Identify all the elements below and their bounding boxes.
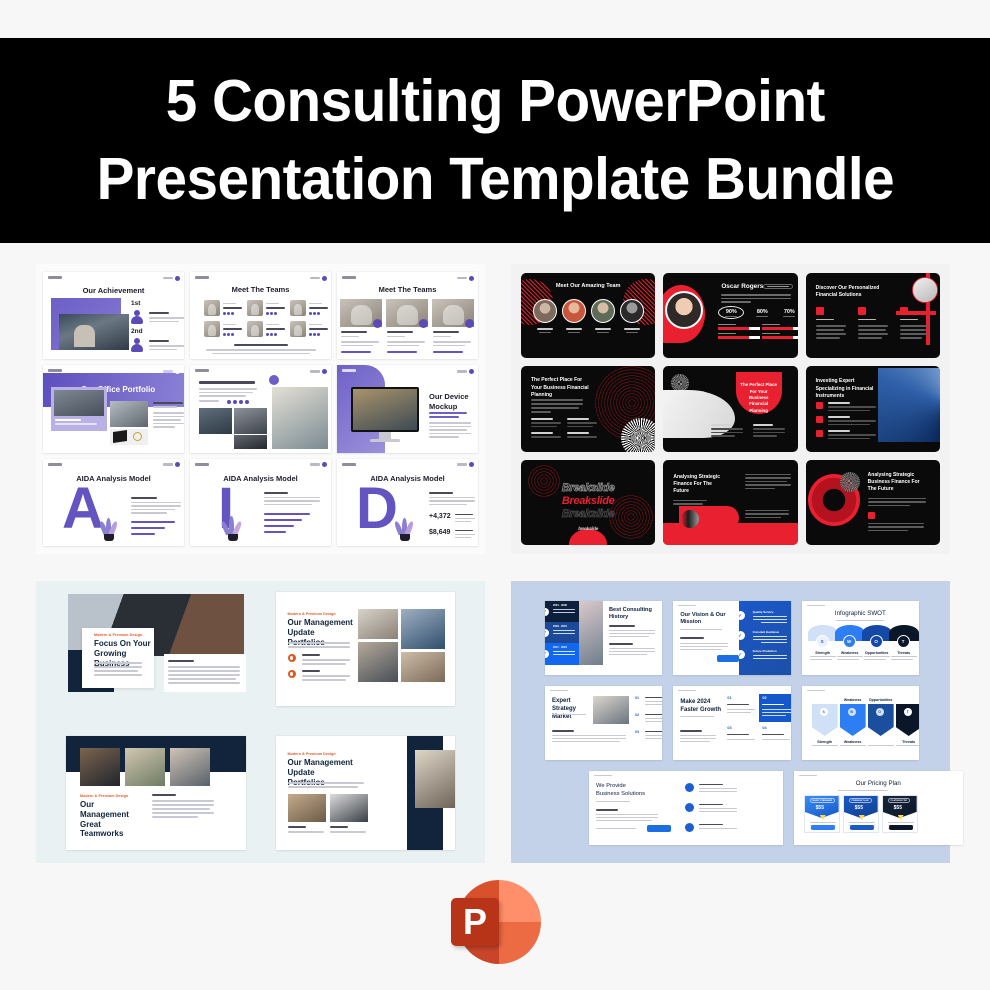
swot-label-opportunities: Opportunities (864, 651, 890, 655)
kicker-label: Modern & Premium Design (80, 794, 128, 798)
body-line (753, 616, 787, 617)
footer-line (206, 349, 316, 351)
progress-bar (718, 336, 760, 339)
body-line (673, 503, 703, 505)
photo-thumbnail (401, 652, 445, 682)
body-line (680, 738, 716, 739)
name-line (387, 331, 413, 333)
avatar (591, 299, 615, 323)
person-icon (130, 310, 144, 324)
body-line (816, 329, 844, 331)
body-line (567, 436, 597, 438)
slide-expert-strategy-market[interactable]: Expert Strategy Market 01 02 03 (545, 686, 662, 760)
feature-title-1: Quality Service (753, 610, 787, 614)
body-line (868, 501, 926, 503)
body-line (433, 341, 471, 343)
badge-icon (269, 375, 279, 385)
body-line (288, 782, 364, 784)
brand-line (807, 605, 825, 606)
body-line (753, 636, 787, 637)
feature-title-3: Future Prediction (753, 649, 787, 653)
name-line (624, 328, 640, 330)
brand-line (550, 690, 568, 691)
rating-dots (223, 312, 234, 315)
choose-plan-button[interactable] (811, 825, 835, 830)
role-line (266, 303, 279, 304)
item-title-line (288, 826, 306, 828)
name-line (595, 328, 611, 330)
read-more-button[interactable] (717, 655, 739, 662)
body-line (711, 435, 735, 437)
photo-thumbnail (415, 750, 455, 808)
slide-aida-attention[interactable]: AIDA Analysis Model A (43, 459, 184, 546)
photo-thumbnail (358, 609, 398, 639)
body-line (699, 811, 737, 812)
body-line (199, 388, 257, 390)
slide-make-2024-faster-growth[interactable]: Make 2024 Faster Growth 01 02 03 04 (673, 686, 790, 760)
swot-icon-strength: S (816, 635, 829, 648)
bullet-icon (685, 803, 694, 812)
body-line (858, 337, 882, 339)
plan-price: $55 (855, 805, 863, 811)
photo-thumbnail (330, 794, 368, 822)
item-number-03: 03 (635, 730, 639, 734)
slide-personalized-solutions[interactable]: Discover Our Personalized Financial Solu… (806, 273, 940, 358)
slide-vision-mission[interactable]: ✓ ✓ ✓ Quality Service Constant Guidance … (673, 601, 790, 675)
slide-focus-growing-business[interactable]: Modern & Premium Design Focus On Your Gr… (66, 592, 246, 706)
photo-thumbnail (80, 748, 120, 786)
body-line (429, 504, 467, 506)
item-number-01: 01 (635, 696, 639, 700)
body-line (552, 741, 620, 742)
slide-title: Analysing Strategic Business Finance For… (868, 472, 930, 494)
slide-perfect-place-hand[interactable]: The Perfect Place For Your Business Fina… (663, 366, 797, 451)
body-line (699, 808, 737, 809)
data-bar (131, 533, 155, 535)
body-line (858, 333, 888, 335)
body-line (149, 349, 177, 351)
body-line (596, 817, 658, 818)
photo-thumbnail (579, 601, 603, 665)
body-line (727, 739, 755, 740)
slide-oscar-rogers[interactable]: Oscar Rogers 90% 80% 70% (663, 273, 797, 358)
slide-title: Expert Strategy Market (552, 698, 594, 721)
photo-thumbnail (272, 387, 328, 449)
label-line (149, 312, 169, 314)
section-heading-line (168, 660, 194, 662)
body-line (429, 429, 467, 431)
swot-icon-opportunities: O (870, 635, 883, 648)
aida-letter: D (356, 486, 398, 531)
body-line (149, 317, 184, 319)
name-line (223, 328, 242, 330)
service-title-line (900, 319, 918, 320)
stat-label-line (756, 316, 768, 317)
slide-swot-pentagons[interactable]: S W O T Strength Weakness Opportunities … (802, 686, 919, 760)
avatar (247, 300, 263, 316)
swot-label-weakness-top: Weakness (840, 698, 866, 702)
body-line (168, 666, 240, 668)
body-line (94, 670, 138, 672)
body-line (553, 630, 575, 631)
body-line (900, 329, 926, 331)
breakslide-footer: breakslide (521, 526, 655, 531)
body-line (868, 526, 924, 528)
item-number-01: 01 (727, 696, 731, 700)
slide-management-update-portfolios-1[interactable]: Modern & Premium Design Our Management U… (276, 592, 456, 706)
brand-line (678, 605, 696, 606)
item-number-02: 02 (635, 713, 639, 717)
section-heading-line (596, 809, 618, 811)
powerpoint-logo: P (451, 876, 543, 968)
learn-more-button[interactable] (647, 825, 671, 832)
item-title-line (531, 432, 553, 434)
photo-thumbnail (199, 408, 232, 434)
service-title-line (858, 319, 876, 320)
name-line (537, 328, 553, 330)
hero-banner: 5 Consulting PowerPoint Presentation Tem… (0, 38, 990, 243)
body-line (152, 808, 210, 810)
photo-thumbnail (593, 696, 629, 724)
body-line (94, 674, 142, 676)
slide-badge (457, 276, 474, 281)
body-line (567, 426, 593, 428)
body-line (680, 649, 722, 650)
body-line (596, 828, 636, 829)
breakslide-filled: Breakslide (521, 495, 655, 507)
person-icon (130, 338, 144, 352)
body-line (761, 642, 787, 643)
section-heading-line (264, 492, 288, 494)
swot-label-weakness: Weakness (837, 651, 863, 655)
service-icon (816, 430, 823, 437)
body-line (699, 828, 737, 829)
body-line (868, 505, 910, 507)
photo-thumbnail (110, 401, 148, 427)
body-line (552, 735, 626, 736)
body-line (429, 433, 471, 435)
slide-perfect-place-rings[interactable]: The Perfect Place For Your Business Fina… (521, 366, 655, 451)
name-line (266, 307, 285, 309)
body-line (753, 428, 785, 430)
body-line (609, 654, 647, 655)
slide-our-office-portfolio[interactable]: Our Office Portfolio (43, 365, 184, 452)
avatar (290, 300, 306, 316)
photo-thumbnail (125, 748, 165, 786)
navy-orange-template-preview[interactable]: Modern & Premium Design Focus On Your Gr… (36, 581, 485, 863)
brand-logo-icon (195, 369, 209, 372)
slide-title: The Perfect Place For Your Business Fina… (740, 382, 778, 414)
body-line (168, 674, 240, 676)
feature-line (849, 822, 875, 823)
timeline-year-3: 2017 - 2024 (553, 646, 567, 649)
slide-title: Our Achievement (43, 286, 184, 295)
brand-line (594, 775, 612, 776)
pricing-card-1[interactable]: BASIC STANDARD $55 (804, 795, 840, 833)
feature-line (888, 822, 914, 823)
body-line (455, 521, 471, 523)
service-icon (816, 307, 824, 315)
body-line (645, 721, 662, 722)
body-line (891, 659, 913, 660)
body-line (302, 659, 350, 661)
role-line (341, 336, 359, 337)
slide-title: Infographic SWOT (802, 610, 919, 618)
subtitle-line (596, 801, 630, 802)
body-line (753, 655, 787, 656)
pricing-card-3[interactable]: PLATINUM PRO $55 (882, 795, 918, 833)
slide-business-solutions[interactable]: We Provide Business Solutions (589, 771, 783, 845)
kicker-label: Modern & Premium Design (94, 633, 142, 637)
body-line (868, 745, 894, 746)
timeline-year-1: 2001 - 2008 (553, 604, 567, 607)
body-line (288, 786, 358, 788)
service-icon (900, 307, 908, 315)
body-line (858, 325, 888, 327)
bullet-icon (288, 670, 296, 678)
item-title-line (567, 432, 589, 434)
body-line (609, 633, 655, 634)
body-line (387, 345, 419, 347)
service-icon (816, 416, 823, 423)
stat-value-1: 90% (718, 309, 744, 315)
slide-analysing-strategic-business[interactable]: Analysing Strategic Business Finance For… (806, 460, 940, 545)
role-line (387, 336, 405, 337)
body-line (429, 500, 475, 502)
brand-logo-icon (48, 369, 62, 372)
body-line (727, 709, 755, 710)
role-line (309, 303, 322, 304)
swot-icon-weakness: W (848, 708, 856, 716)
body-line (745, 484, 791, 486)
photo-thumbnail (234, 408, 267, 434)
slide-breakslide[interactable]: Breakslide Breakslide Breakslide breaksl… (521, 460, 655, 545)
body-line (567, 422, 597, 424)
section-heading-line (552, 730, 574, 732)
body-line (680, 629, 722, 630)
body-line (264, 500, 320, 502)
section-heading-line (429, 492, 453, 494)
photo-thumbnail (358, 642, 398, 682)
body-line (153, 423, 184, 425)
swot-label-threats: Threats (891, 651, 917, 655)
data-bar (264, 519, 302, 521)
body-line (131, 509, 175, 511)
avatar (562, 299, 586, 323)
avatar (665, 291, 703, 329)
data-bar (264, 525, 294, 527)
slide-meet-the-teams-cards[interactable]: Meet The Teams (337, 272, 478, 359)
body-line (553, 651, 575, 652)
brand-logo-icon (342, 276, 356, 279)
slide-title: Meet The Teams (337, 285, 478, 294)
plan-price: $55 (816, 805, 824, 811)
body-line (828, 424, 870, 426)
slide-management-great-teamworks[interactable]: Modern & Premium Design Our Management G… (66, 736, 246, 850)
brand-logo-icon (48, 463, 62, 466)
badge-icon (373, 319, 382, 328)
subtitle-line (836, 620, 884, 621)
role-line (309, 324, 322, 325)
slide-best-consulting-history[interactable]: ✓ ✓ ✓ 2001 - 2008 2009 - 2016 2017 - 202… (545, 601, 662, 675)
body-line (153, 416, 184, 418)
body-line (745, 513, 789, 515)
item-title-line (567, 418, 589, 420)
slide-title: Meet The Teams (190, 285, 331, 294)
select-plan-button[interactable] (850, 825, 874, 830)
rank-label-2: 2nd (131, 328, 143, 335)
section-heading-line (131, 497, 157, 499)
halftone-decoration (621, 418, 655, 452)
plan-name: BASIC STANDARD (810, 798, 836, 803)
body-line (341, 345, 373, 347)
slide-analysing-strategic-finance[interactable]: Analysing Strategic Finance For The Futu… (663, 460, 797, 545)
plant-illustration (222, 515, 244, 541)
body-line (761, 622, 787, 623)
service-icon (816, 402, 823, 409)
slide-title: Investing Expert Specializing in Financi… (816, 378, 882, 400)
role-tag (763, 284, 793, 289)
bullet-icon (685, 783, 694, 792)
hero-title-line-1: 5 Consulting PowerPoint (165, 63, 824, 141)
data-bar (264, 513, 310, 515)
swot-icon-strength: S (820, 708, 828, 716)
body-line (645, 738, 662, 739)
order-plan-button[interactable] (889, 825, 913, 830)
red-dark-template-preview[interactable]: Meet Our Amazing Team Oscar Rogers 90% 8… (511, 264, 950, 554)
section-heading-line (680, 637, 704, 639)
rating-dots (266, 333, 277, 336)
bar-label (718, 324, 736, 325)
body-line (645, 718, 662, 719)
slide-aida-desire[interactable]: AIDA Analysis Model D +4,372 $8,649 (337, 459, 478, 546)
item-number-03: 03 (727, 726, 731, 730)
role-line (597, 332, 609, 333)
body-line (199, 400, 219, 401)
brand-line (799, 775, 817, 776)
body-line (816, 333, 846, 335)
body-line (812, 745, 838, 746)
slide-our-device-mockup[interactable]: Our Device Mockup (337, 365, 478, 452)
slide-badge (163, 369, 180, 374)
stat-label-line (455, 514, 473, 516)
item-title-line (699, 804, 723, 805)
slide-management-update-portfolios-2[interactable]: Modern & Premium Design Our Management U… (276, 736, 456, 850)
brand-logo-icon (48, 276, 62, 279)
slide-badge (163, 276, 180, 281)
service-title-line (816, 319, 834, 320)
timeline-year-2: 2009 - 2016 (553, 625, 567, 628)
blue-fan-decoration (878, 368, 940, 442)
slide-our-pricing-plan[interactable]: Our Pricing Plan BASIC STANDARD $55 PREM… (794, 771, 963, 845)
body-line (264, 497, 320, 499)
body-line (753, 432, 785, 434)
body-line (429, 497, 475, 499)
slide-aida-interest[interactable]: AIDA Analysis Model I (190, 459, 331, 546)
role-line (266, 324, 279, 325)
plant-illustration (395, 517, 415, 541)
slide-title: Our Pricing Plan (794, 780, 963, 788)
brand-logo-icon (195, 276, 209, 279)
body-line (745, 488, 775, 490)
body-line (810, 656, 836, 657)
subtitle-line (680, 716, 714, 717)
slide-meet-the-teams-grid[interactable]: Meet The Teams (190, 272, 331, 359)
slide-title: Our Management Great Teamworks (80, 800, 142, 839)
footer-line (212, 353, 310, 355)
slide-meet-our-amazing-team[interactable]: Meet Our Amazing Team (521, 273, 655, 358)
body-line (816, 337, 840, 339)
stat-label-line (455, 530, 473, 532)
body-line (900, 325, 928, 327)
body-line (868, 530, 908, 532)
body-line (858, 329, 886, 331)
purple-template-preview[interactable]: Our Achievement 1st 2nd Meet The Teams (36, 264, 485, 554)
label-line (149, 340, 169, 342)
body-line (645, 735, 662, 736)
stat-value-2: 80% (750, 309, 774, 315)
role-line (223, 324, 236, 325)
body-line (455, 537, 471, 539)
body-line (149, 321, 179, 323)
plan-name: PLATINUM PRO (888, 798, 911, 803)
slide-our-achievement[interactable]: Our Achievement 1st 2nd (43, 272, 184, 359)
name-line (433, 331, 459, 333)
body-line (455, 534, 475, 536)
body-line (762, 709, 790, 710)
breakslide-outline-1: Breakslide (521, 482, 655, 494)
service-icon (858, 307, 866, 315)
role-line (568, 332, 580, 333)
pricing-card-2[interactable]: PREMIUM PLAN $55 (843, 795, 879, 833)
body-line (721, 298, 791, 300)
body-line (152, 816, 198, 818)
slide-title: AIDA Analysis Model (190, 474, 331, 483)
body-line (609, 630, 655, 631)
body-line (828, 406, 876, 408)
data-bar (131, 527, 165, 529)
blue-corporate-template-preview[interactable]: ✓ ✓ ✓ 2001 - 2008 2009 - 2016 2017 - 202… (511, 581, 950, 863)
service-title-line (828, 430, 850, 432)
body-line (94, 666, 142, 668)
progress-bar (762, 327, 797, 330)
body-line (302, 663, 346, 665)
slide-infographic-swot-arcs[interactable]: Infographic SWOT S W O T Strength Weakne… (802, 601, 919, 675)
item-title-line (302, 654, 320, 656)
item-title-line (645, 714, 662, 715)
item-title-line (711, 424, 731, 426)
role-line (433, 336, 451, 337)
avatar (620, 299, 644, 323)
body-line (429, 426, 471, 428)
slide-badge (163, 462, 180, 467)
slide-badge (310, 276, 327, 281)
body-line (429, 436, 459, 438)
item-title-line (699, 784, 723, 785)
slide-investing-expert[interactable]: Investing Expert Specializing in Financi… (806, 366, 940, 451)
body-line (264, 504, 312, 506)
body-line (673, 500, 707, 502)
slide-work-together[interactable] (190, 365, 331, 452)
body-line (864, 656, 890, 657)
swot-label-strength: Strength (810, 651, 836, 655)
powerpoint-tile: P (451, 898, 499, 946)
body-line (680, 735, 716, 736)
body-line (864, 659, 886, 660)
brand-line (807, 690, 825, 691)
name-line (341, 331, 367, 333)
subtitle-line (552, 714, 586, 715)
